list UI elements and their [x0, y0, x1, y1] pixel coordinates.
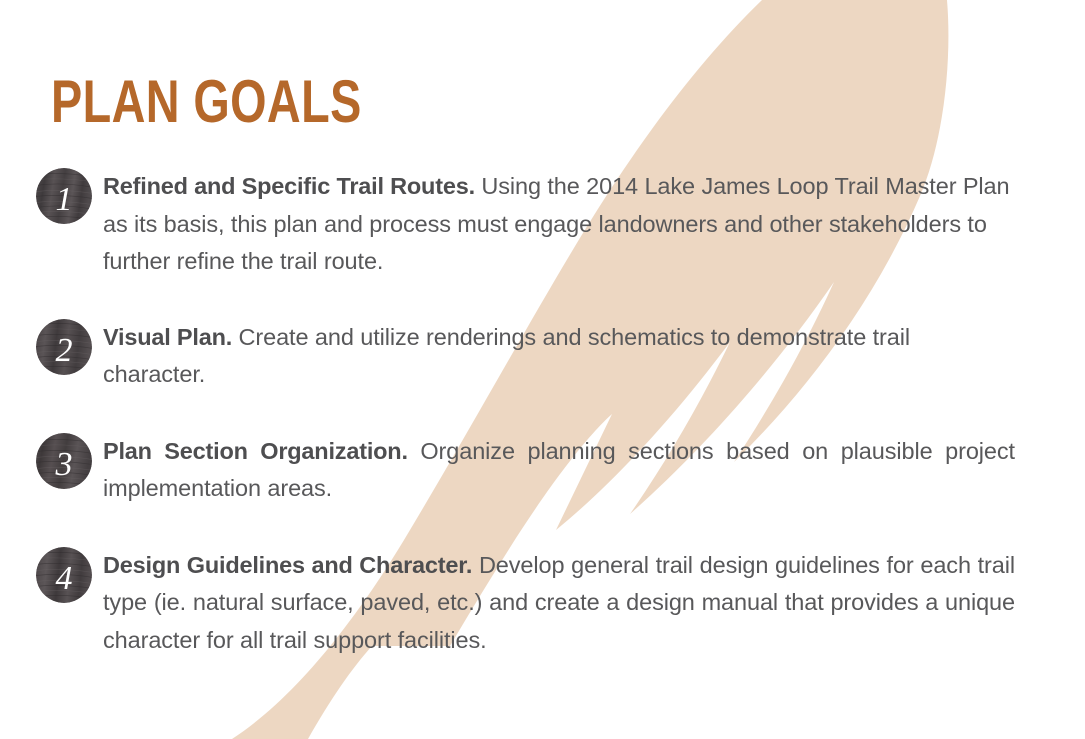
wood-circle-icon: 1	[36, 168, 92, 224]
wood-circle-icon: 3	[36, 433, 92, 489]
goal-lead-4: Design Guidelines and Character.	[103, 552, 472, 578]
goal-number-label: 4	[56, 560, 73, 597]
goal-number-label: 3	[55, 446, 73, 483]
goal-item-1: 1 Refined and Specific Trail Routes. Usi…	[0, 168, 1085, 281]
goal-number-label: 1	[56, 181, 73, 218]
goal-number-badge-4: 4	[36, 547, 92, 603]
goal-lead-1: Refined and Specific Trail Routes.	[103, 173, 475, 199]
goal-text-1: Refined and Specific Trail Routes. Using…	[103, 168, 1015, 281]
wood-circle-icon: 2	[36, 319, 92, 375]
page-title: PLAN GOALS	[51, 72, 362, 132]
goal-text-4: Design Guidelines and Character. Develop…	[103, 547, 1015, 660]
goal-number-badge-2: 2	[36, 319, 92, 375]
goal-item-4: 4 Design Guidelines and Character. Devel…	[0, 547, 1085, 660]
goal-item-3: 3 Plan Section Organization. Organize pl…	[0, 433, 1085, 508]
goals-list: 1 Refined and Specific Trail Routes. Usi…	[0, 168, 1085, 659]
wood-circle-icon: 4	[36, 547, 92, 603]
content-area: PLAN GOALS	[0, 0, 1085, 739]
plan-goals-page: PLAN GOALS	[0, 0, 1085, 739]
goal-lead-3: Plan Section Organization.	[103, 438, 408, 464]
goal-item-2: 2 Visual Plan. Create and utilize render…	[0, 319, 1085, 394]
goal-lead-2: Visual Plan.	[103, 324, 232, 350]
goal-number-badge-1: 1	[36, 168, 92, 224]
goal-number-badge-3: 3	[36, 433, 92, 489]
goal-text-3: Plan Section Organization. Organize plan…	[103, 433, 1015, 508]
goal-number-label: 2	[56, 332, 73, 369]
goal-text-2: Visual Plan. Create and utilize renderin…	[103, 319, 1015, 394]
